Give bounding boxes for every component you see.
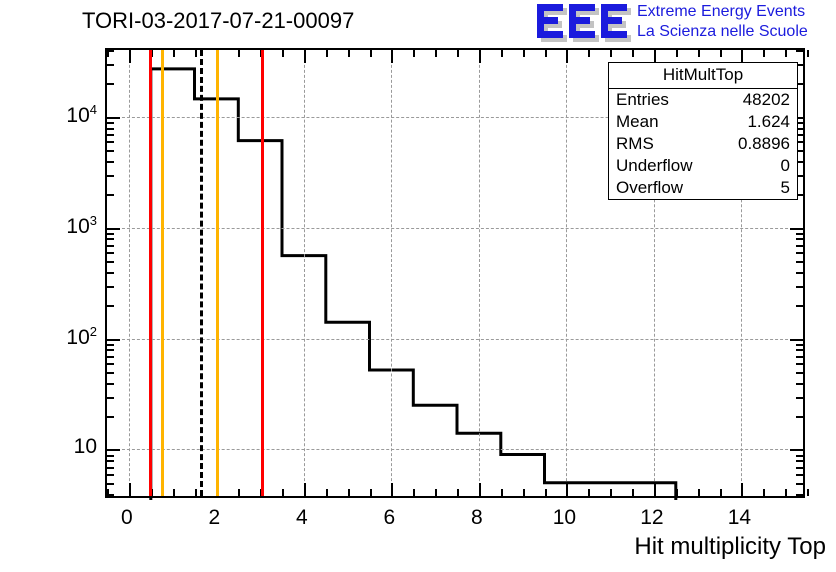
y-tick-minor [796,363,803,365]
y-tick-minor [796,233,803,235]
y-tick-minor [796,483,803,485]
y-tick-minor [796,474,803,476]
y-tick-minor [107,483,114,485]
stats-row: RMS0.8896 [609,133,797,155]
x-tick-minor [545,489,547,496]
y-tick-minor [107,83,114,85]
x-gridline [129,50,130,496]
x-tick-minor [720,489,722,496]
x-tick-minor [282,489,284,496]
marker-line-mean-dashed [200,50,203,496]
y-tick-minor [107,161,114,163]
y-tick-minor [107,150,114,152]
stats-key: Underflow [616,156,693,176]
x-tick-minor [435,489,437,496]
stats-value: 5 [781,178,790,198]
stats-title: HitMultTop [609,63,797,89]
x-tick-minor [523,489,525,496]
y-tick-minor [107,363,114,365]
y-tick-label: 104 [66,102,97,128]
y-tick-major [107,339,120,341]
y-tick-minor [796,356,803,358]
x-tick-minor [588,50,590,57]
y-tick-minor [796,460,803,462]
x-gridline [479,50,480,496]
x-tick-major [391,50,393,63]
x-tick-major [391,483,393,496]
x-tick-label: 12 [640,506,663,530]
x-tick-minor [326,489,328,496]
histogram-outline [151,69,676,500]
y-tick-minor [796,238,803,240]
x-tick-minor [632,50,634,57]
stats-value: 0.8896 [738,134,790,154]
y-tick-minor [107,134,114,136]
x-gridline [566,50,567,496]
x-tick-minor [676,50,678,57]
x-tick-minor [413,489,415,496]
x-tick-minor [763,489,765,496]
x-tick-minor [785,489,787,496]
y-tick-minor [796,245,803,247]
x-tick-minor [238,50,240,57]
y-tick-minor [796,305,803,307]
x-tick-major [129,50,131,63]
x-tick-minor [807,50,809,57]
x-tick-major [566,50,568,63]
x-tick-major [654,483,656,496]
x-tick-minor [545,50,547,57]
x-tick-minor [107,50,109,57]
eee-letter-2 [569,4,595,38]
stats-value: 48202 [743,90,790,110]
y-tick-minor [107,245,114,247]
stats-key: Overflow [616,178,683,198]
y-tick-minor [796,455,803,457]
y-tick-minor [107,474,114,476]
y-tick-minor [796,50,803,52]
stats-key: Mean [616,112,659,132]
y-tick-minor [107,416,114,418]
eee-logo-text: Extreme Energy Events La Scienza nelle S… [637,2,808,42]
x-tick-minor [435,50,437,57]
y-tick-minor [796,252,803,254]
y-tick-major [790,339,803,341]
x-tick-minor [370,50,372,57]
x-tick-label: 10 [553,506,576,530]
y-tick-major [107,449,120,451]
y-tick-minor [107,238,114,240]
x-tick-minor [173,50,175,57]
x-gridline [391,50,392,496]
y-tick-minor [107,467,114,469]
stats-row: Entries48202 [609,89,797,111]
stats-value: 0 [781,156,790,176]
y-tick-minor [107,460,114,462]
marker-line-orange-high [216,50,219,496]
x-tick-minor [720,50,722,57]
y-tick-minor [107,455,114,457]
y-tick-minor [796,286,803,288]
y-tick-minor [107,272,114,274]
x-tick-minor [610,489,612,496]
y-tick-minor [107,356,114,358]
y-tick-minor [107,397,114,399]
y-tick-minor [796,383,803,385]
x-tick-major [566,483,568,496]
x-tick-label: 14 [728,506,751,530]
y-tick-minor [796,397,803,399]
y-tick-minor [107,233,114,235]
x-tick-major [304,50,306,63]
y-tick-minor [796,372,803,374]
eee-logo-line1: Extreme Energy Events [637,2,808,22]
x-tick-label: 6 [384,506,396,530]
x-tick-minor [632,489,634,496]
x-tick-minor [698,50,700,57]
y-tick-label: 10 [74,435,97,459]
x-axis-title: Hit multiplicity Top [634,533,826,561]
y-tick-major [107,117,120,119]
y-tick-minor [107,344,114,346]
y-tick-major [107,228,120,230]
y-tick-minor [107,194,114,196]
y-tick-major [790,228,803,230]
x-tick-minor [807,489,809,496]
x-tick-major [741,483,743,496]
x-tick-minor [457,50,459,57]
y-tick-minor [107,141,114,143]
x-tick-minor [763,50,765,57]
y-tick-minor [796,344,803,346]
x-tick-minor [348,489,350,496]
y-tick-label: 103 [66,213,97,239]
x-tick-label: 0 [121,506,133,530]
stats-key: Entries [616,90,669,110]
x-tick-minor [173,489,175,496]
x-tick-minor [676,489,678,496]
x-tick-major [304,483,306,496]
y-tick-minor [796,467,803,469]
y-gridline [107,228,803,229]
x-tick-label: 2 [209,506,221,530]
y-tick-minor [796,494,803,496]
marker-line-red-low [149,50,152,496]
x-tick-minor [195,50,197,57]
eee-letter-fore [601,4,627,38]
x-tick-minor [195,489,197,496]
stats-row: Mean1.624 [609,111,797,133]
x-tick-minor [326,50,328,57]
stats-key: RMS [616,134,654,154]
plot-canvas: TORI-03-2017-07-21-00097 [0,0,836,572]
page-title: TORI-03-2017-07-21-00097 [82,8,354,34]
y-tick-major [790,449,803,451]
y-tick-minor [107,305,114,307]
x-tick-minor [457,489,459,496]
x-tick-minor [282,50,284,57]
y-tick-minor [107,261,114,263]
x-tick-minor [523,50,525,57]
x-tick-minor [698,489,700,496]
y-tick-minor [107,175,114,177]
eee-letter-fore [537,4,563,38]
y-tick-minor [107,252,114,254]
x-tick-minor [785,50,787,57]
y-tick-minor [107,349,114,351]
x-tick-major [479,483,481,496]
stats-rows: Entries48202Mean1.624RMS0.8896Underflow0… [609,89,797,199]
x-tick-minor [413,50,415,57]
x-tick-minor [501,50,503,57]
x-tick-minor [610,50,612,57]
x-tick-minor [588,489,590,496]
eee-letter-3 [601,4,627,38]
y-tick-minor [796,261,803,263]
y-gridline [107,339,803,340]
x-tick-minor [107,489,109,496]
x-tick-major [479,50,481,63]
y-tick-minor [107,372,114,374]
x-tick-minor [501,489,503,496]
marker-line-red-high [261,50,264,496]
stats-box: HitMultTop Entries48202Mean1.624RMS0.889… [608,62,798,200]
eee-letter-1 [537,4,563,38]
marker-line-orange-low [161,50,164,496]
x-gridline [304,50,305,496]
y-tick-minor [796,272,803,274]
x-tick-minor [370,489,372,496]
y-tick-minor [107,286,114,288]
stats-value: 1.624 [747,112,790,132]
y-tick-minor [107,383,114,385]
x-tick-minor [238,489,240,496]
stats-row: Overflow5 [609,177,797,199]
x-tick-minor [348,50,350,57]
y-tick-label: 102 [66,324,97,350]
y-tick-minor [796,416,803,418]
eee-logo-line2: La Scienza nelle Scuole [637,22,808,42]
x-tick-major [129,483,131,496]
y-tick-minor [107,64,114,66]
eee-logo: Extreme Energy Events La Scienza nelle S… [537,2,833,44]
y-tick-minor [796,349,803,351]
x-tick-label: 4 [296,506,308,530]
eee-logo-mark [537,4,633,40]
eee-letter-fore [569,4,595,38]
x-tick-label: 8 [471,506,483,530]
y-tick-minor [107,122,114,124]
y-gridline [107,449,803,450]
stats-row: Underflow0 [609,155,797,177]
y-tick-minor [107,128,114,130]
